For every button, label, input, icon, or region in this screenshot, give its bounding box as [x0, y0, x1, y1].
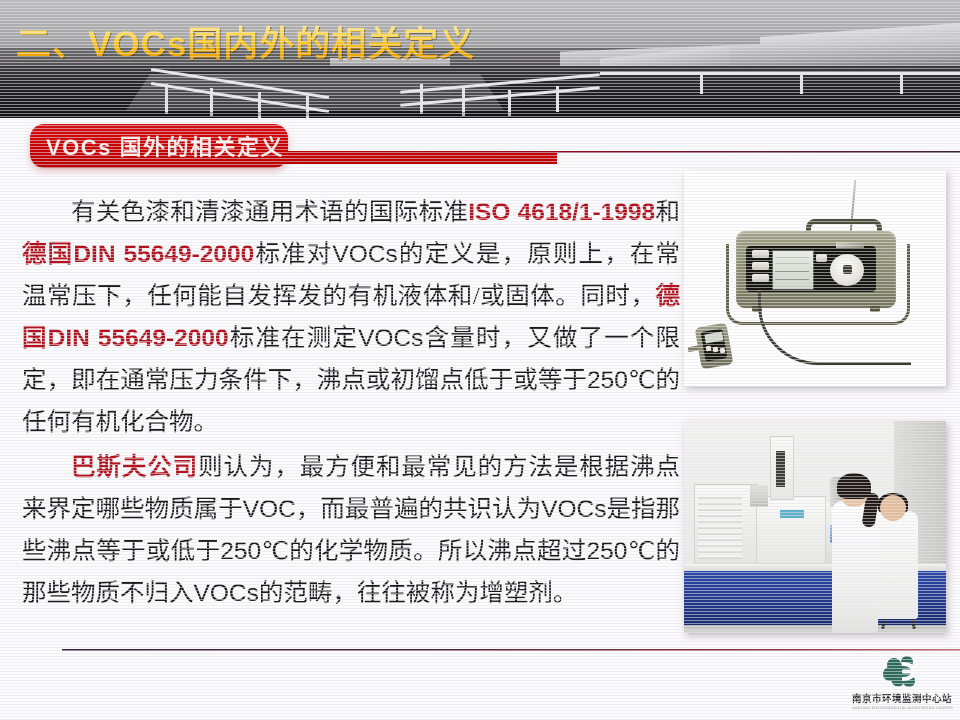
technician-b-labcoat: [874, 511, 918, 619]
text-run: 250℃: [220, 538, 289, 565]
paragraph-2: 巴斯夫公司则认为，最方便和最常见的方法是根据沸点来界定哪些物质属于VOC，而最普…: [22, 447, 680, 615]
organization-name-en: NANJING ENVIRONMENTAL MONITORING CENTER: [852, 705, 952, 711]
railing-post-8: [556, 86, 559, 112]
technician-a-hair: [837, 473, 871, 499]
text-run: 的范畴，往往被称为增塑剂。: [259, 580, 578, 607]
catwalk-deck: [126, 74, 504, 111]
footer-divider: [62, 649, 960, 651]
keypad-button-6: [758, 274, 769, 282]
probe-button-1: [706, 346, 712, 352]
text-run: VOCs: [332, 241, 397, 268]
text-run: VOC: [243, 496, 296, 523]
analyzer-brand-logo: [836, 242, 864, 248]
instrument-label: [780, 510, 804, 518]
keypad-button-7: [816, 254, 827, 262]
portable-gas-analyzer-photo: [684, 170, 946, 386]
railing-post-1: [165, 84, 168, 114]
railing-post-10: [800, 72, 803, 94]
organization-name-cn: 南京市环境监测中心站: [852, 694, 952, 705]
mass-spectrometer-vents: [698, 497, 742, 559]
keypad-button-4: [758, 250, 769, 258]
text-run: VOCs: [541, 496, 606, 523]
technician-b-head: [880, 495, 906, 521]
text-run: VOCs: [358, 325, 423, 352]
page-title: 二、VOCs国内外的相关定义: [16, 24, 475, 66]
organization-logo: 南京市环境监测中心站 NANJING ENVIRONMENTAL MONITOR…: [852, 655, 952, 713]
railing-post-9: [700, 72, 703, 94]
text-run: DIN 55649-2000: [48, 325, 229, 352]
text-run: ISO 4618/1-1998: [468, 199, 655, 226]
slide-root: 二、VOCs国内外的相关定义 VOCs 国外的相关定义 有关色漆和清漆通用术语的…: [0, 0, 960, 720]
dpad-center-button: [843, 265, 852, 274]
text-run: 250℃: [587, 538, 656, 565]
railing-post-5: [420, 84, 423, 114]
probe-button-2: [713, 347, 719, 353]
railing-far: [600, 72, 960, 75]
autosampler-arm: [750, 485, 768, 507]
text-run: 和: [655, 199, 680, 226]
text-run: 标准在测定: [229, 325, 358, 352]
text-run: DIN 55649-2000: [73, 241, 254, 268]
text-run: 250℃: [587, 367, 656, 394]
text-run: 标准对: [254, 241, 332, 268]
header-bottom-edge: [0, 112, 960, 118]
text-run: ，而最普遍的共识认为: [296, 496, 541, 523]
section-banner-label: VOCs 国外的相关定义: [30, 130, 284, 162]
text-run: 有关色漆和清漆通用术语的国际标准: [71, 199, 468, 226]
autosampler-tower-window: [776, 451, 785, 487]
railing-post-11: [900, 72, 903, 94]
paragraph-1: 有关色漆和清漆通用术语的国际标准ISO 4618/1-1998和德国DIN 55…: [22, 192, 680, 444]
text-run: VOCs: [194, 580, 259, 607]
text-run: 的化学物质。所以沸点超过: [289, 538, 586, 565]
text-run: 巴斯夫公司: [71, 454, 198, 481]
lab-floor: [684, 625, 946, 633]
probe-button-3: [720, 348, 726, 354]
analyzer-lcd-screen: [772, 250, 814, 290]
keypad-button-5: [758, 262, 769, 270]
environment-leaf-e-icon: [852, 655, 952, 689]
section-banner-pill: VOCs 国外的相关定义: [30, 124, 288, 168]
text-run: 德国: [22, 241, 73, 268]
laboratory-gcms-photo: [684, 421, 946, 633]
section-banner: VOCs 国外的相关定义: [0, 124, 960, 172]
body-text: 有关色漆和清漆通用术语的国际标准ISO 4618/1-1998和德国DIN 55…: [22, 192, 680, 615]
